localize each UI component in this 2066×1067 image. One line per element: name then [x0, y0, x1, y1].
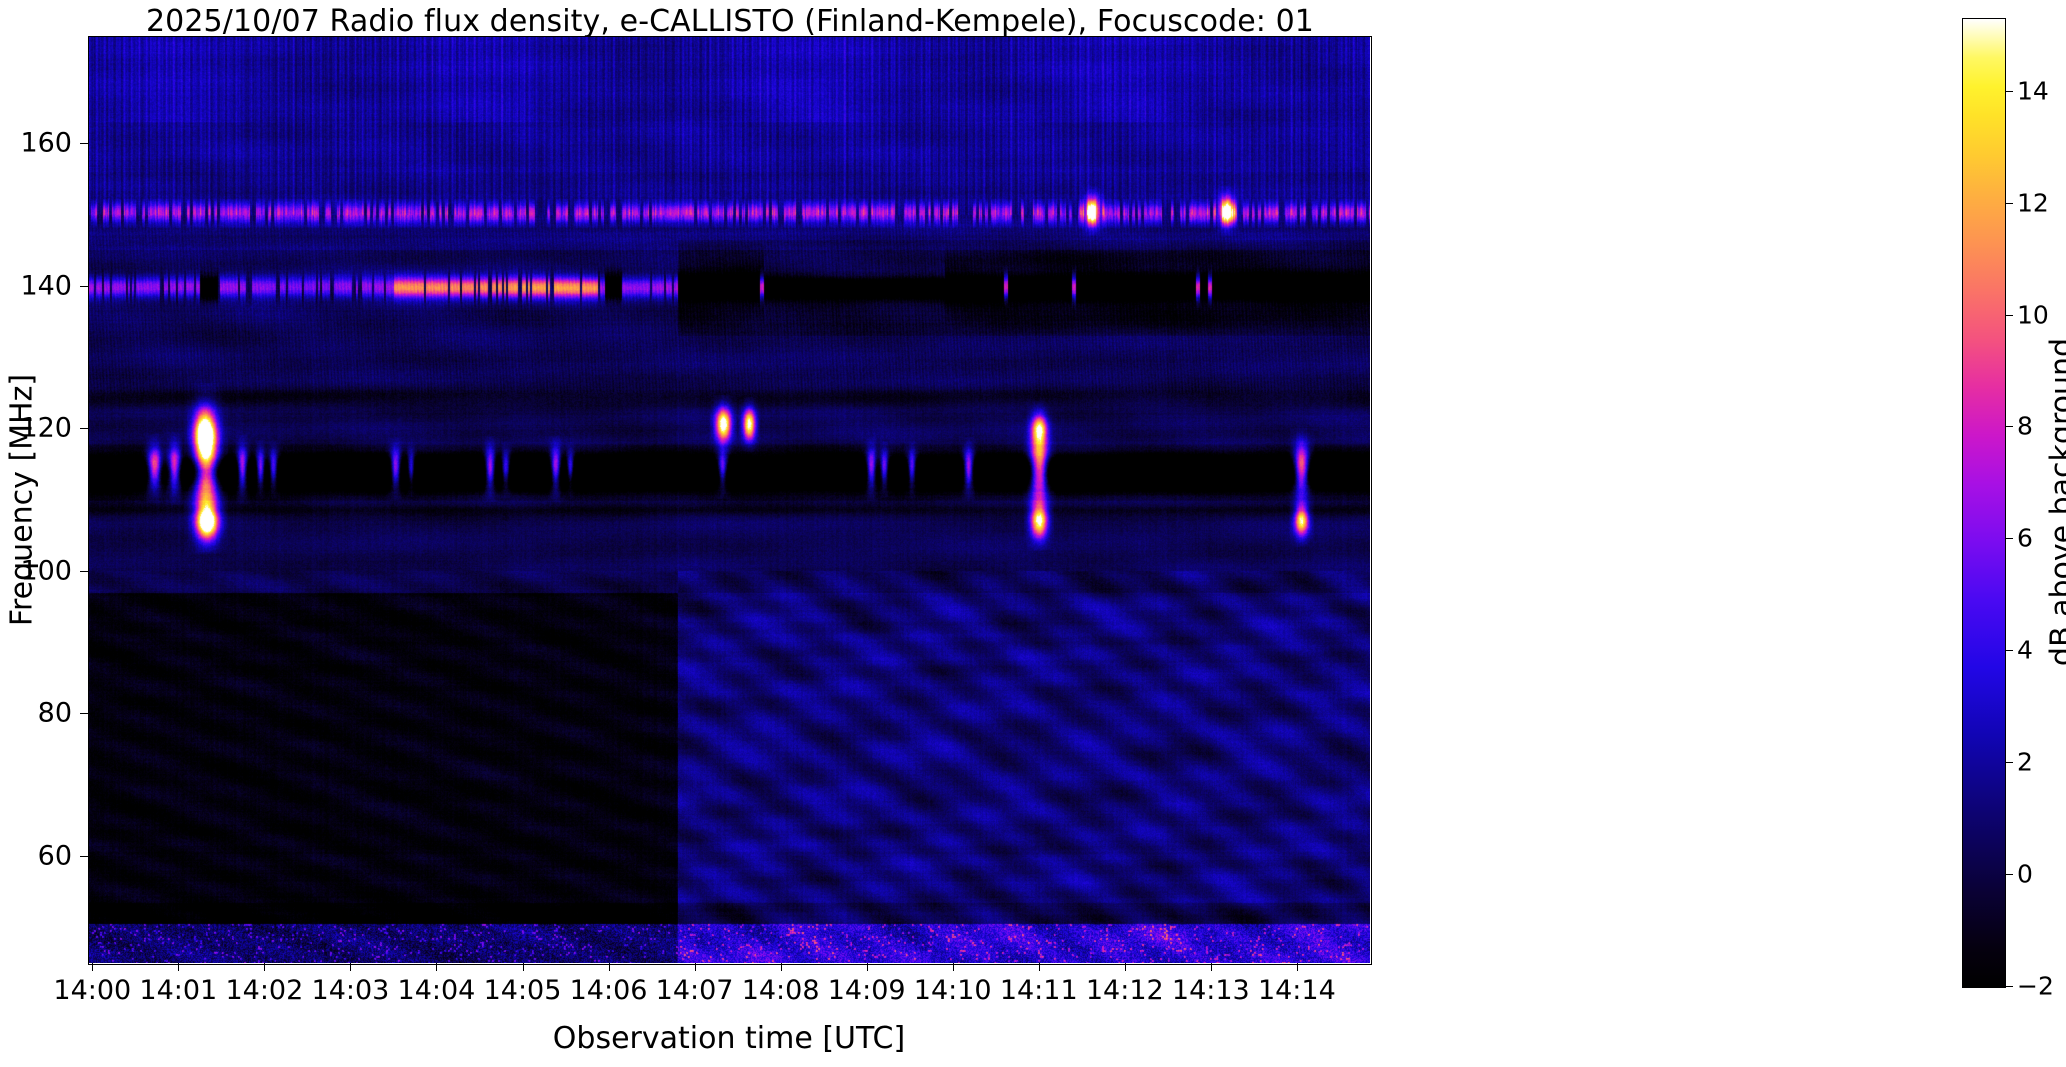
x-tick-label: 14:06 [570, 975, 648, 1006]
colorbar-tick-label: 2 [2017, 748, 2033, 777]
x-tick-label: 14:02 [225, 975, 303, 1006]
x-tick [1125, 963, 1126, 971]
x-tick-label: 14:03 [312, 975, 390, 1006]
spectrogram-image [88, 36, 1370, 963]
x-tick-label: 14:12 [1086, 975, 1164, 1006]
x-tick-label: 14:05 [484, 975, 562, 1006]
x-tick [781, 963, 782, 971]
x-tick [609, 963, 610, 971]
x-tick [953, 963, 954, 971]
colorbar-gradient [1962, 18, 2006, 988]
x-tick [264, 963, 265, 971]
y-tick [80, 286, 88, 287]
colorbar-tick-label: 12 [2017, 188, 2049, 217]
x-tick [1211, 963, 1212, 971]
x-tick-label: 14:11 [1000, 975, 1078, 1006]
colorbar-tick [2005, 315, 2013, 316]
colorbar-tick [2005, 203, 2013, 204]
y-tick [80, 713, 88, 714]
spectrogram-plot-area [88, 36, 1370, 963]
x-tick-label: 14:04 [398, 975, 476, 1006]
colorbar-tick-label: 0 [2017, 860, 2033, 889]
y-tick [80, 428, 88, 429]
x-tick-label: 14:00 [53, 975, 131, 1006]
colorbar-tick [2005, 650, 2013, 651]
y-axis-label: Frequency [MHz] [5, 374, 40, 626]
x-tick-label: 14:01 [139, 975, 217, 1006]
colorbar-tick-label: −2 [2017, 972, 2054, 1001]
colorbar-tick [2005, 762, 2013, 763]
x-axis-label: Observation time [UTC] [88, 1021, 1370, 1056]
colorbar-tick-label: 8 [2017, 412, 2033, 441]
x-tick [695, 963, 696, 971]
x-tick [1297, 963, 1298, 971]
x-tick-label: 14:10 [914, 975, 992, 1006]
page-title: 2025/10/07 Radio flux density, e-CALLIST… [0, 4, 1460, 39]
y-tick [80, 856, 88, 857]
colorbar-tick-label: 4 [2017, 636, 2033, 665]
figure-canvas: 2025/10/07 Radio flux density, e-CALLIST… [0, 0, 2066, 1067]
x-tick-label: 14:13 [1172, 975, 1250, 1006]
colorbar-tick-label: 14 [2017, 76, 2049, 105]
colorbar-tick [2005, 874, 2013, 875]
colorbar-tick [2005, 538, 2013, 539]
x-tick [436, 963, 437, 971]
y-tick [80, 143, 88, 144]
y-axis-label-wrap: Frequency [MHz] [24, 0, 64, 1000]
x-tick [523, 963, 524, 971]
x-tick [92, 963, 93, 971]
y-tick [80, 571, 88, 572]
x-tick [178, 963, 179, 971]
x-tick-label: 14:09 [828, 975, 906, 1006]
x-tick-label: 14:07 [656, 975, 734, 1006]
x-tick-label: 14:14 [1258, 975, 1336, 1006]
x-tick [350, 963, 351, 971]
colorbar-tick-label: 6 [2017, 524, 2033, 553]
x-tick [1039, 963, 1040, 971]
colorbar-label: dB above background [2045, 338, 2066, 666]
x-tick-label: 14:08 [742, 975, 820, 1006]
colorbar-tick [2005, 986, 2013, 987]
colorbar-tick-label: 10 [2017, 300, 2049, 329]
x-tick [867, 963, 868, 971]
colorbar-tick [2005, 426, 2013, 427]
colorbar-tick [2005, 91, 2013, 92]
